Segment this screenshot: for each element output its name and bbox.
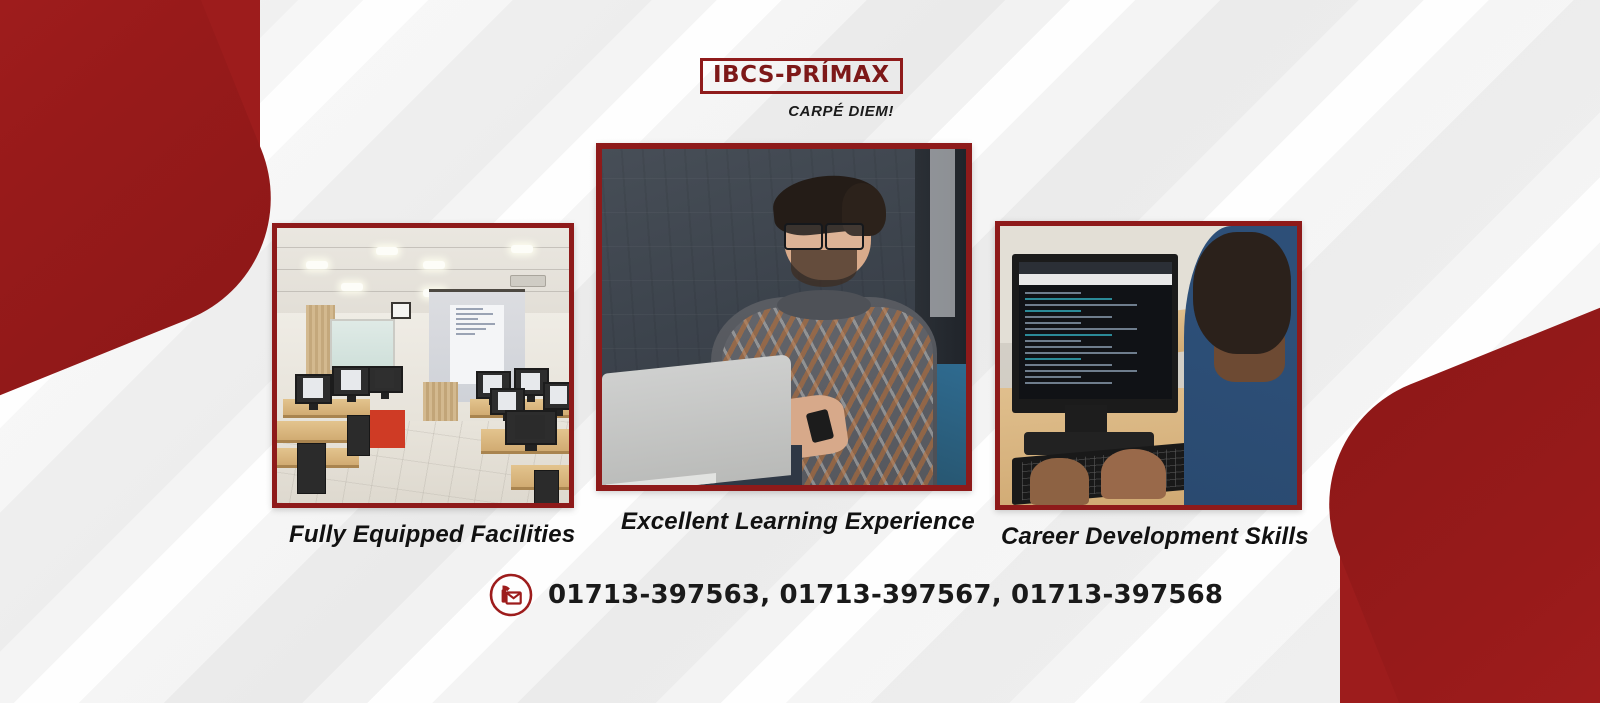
promo-banner: IBCS-PRÍMAX CARPÉ DIEM!	[0, 0, 1600, 703]
contact-row[interactable]: 01713-397563, 01713-397567, 01713-397568	[488, 572, 1223, 618]
contact-phone-numbers[interactable]: 01713-397563, 01713-397567, 01713-397568	[548, 580, 1223, 610]
caption-fully-equipped-facilities: Fully Equipped Facilities	[289, 521, 575, 549]
logo-tagline: CARPÉ DIEM!	[700, 103, 900, 120]
photo-coder-at-desk	[1000, 226, 1297, 505]
caption-career-development-skills: Career Development Skills	[1001, 523, 1309, 551]
caption-excellent-learning-experience: Excellent Learning Experience	[621, 508, 975, 536]
logo-wordmark: IBCS-PRÍMAX	[713, 64, 890, 87]
photo-frame-career-development-skills[interactable]	[995, 221, 1302, 510]
logo-box: IBCS-PRÍMAX	[700, 58, 903, 94]
photo-student-with-laptop	[602, 149, 966, 485]
photo-computer-lab	[277, 228, 569, 503]
phone-envelope-icon	[488, 572, 534, 618]
photo-frame-excellent-learning-experience[interactable]	[596, 143, 972, 491]
brand-logo[interactable]: IBCS-PRÍMAX CARPÉ DIEM!	[700, 58, 900, 120]
photo-frame-fully-equipped-facilities[interactable]	[272, 223, 574, 508]
